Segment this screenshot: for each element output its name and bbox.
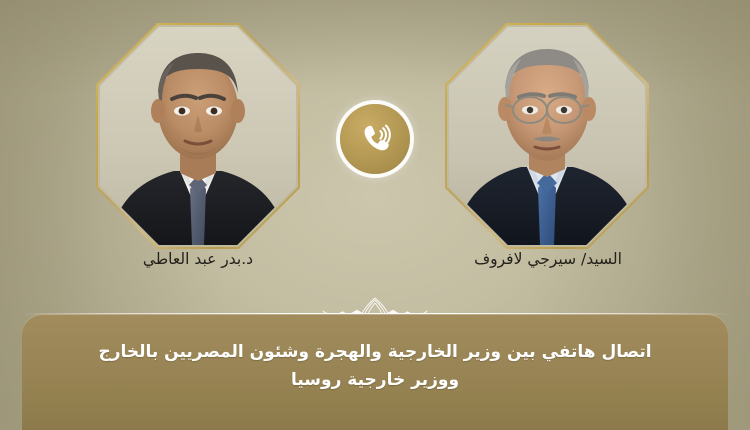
portrait-left — [100, 27, 296, 245]
person-name-right: السيد/ سيرجي لافروف — [418, 250, 678, 268]
portrait-photo-right — [449, 27, 645, 245]
portrait-right — [449, 27, 645, 245]
phone-call-badge — [340, 104, 410, 174]
news-card: د.بدر عبد العاطي — [0, 0, 750, 430]
portrait-photo-left — [100, 27, 296, 245]
phone-call-icon — [355, 119, 395, 159]
person-name-left: د.بدر عبد العاطي — [68, 250, 328, 268]
caption-box: اتصال هاتفي بين وزير الخارجية والهجرة وش… — [22, 314, 728, 430]
caption-line-2: ووزير خارجية روسيا — [291, 366, 459, 394]
caption-line-1: اتصال هاتفي بين وزير الخارجية والهجرة وش… — [98, 338, 651, 366]
